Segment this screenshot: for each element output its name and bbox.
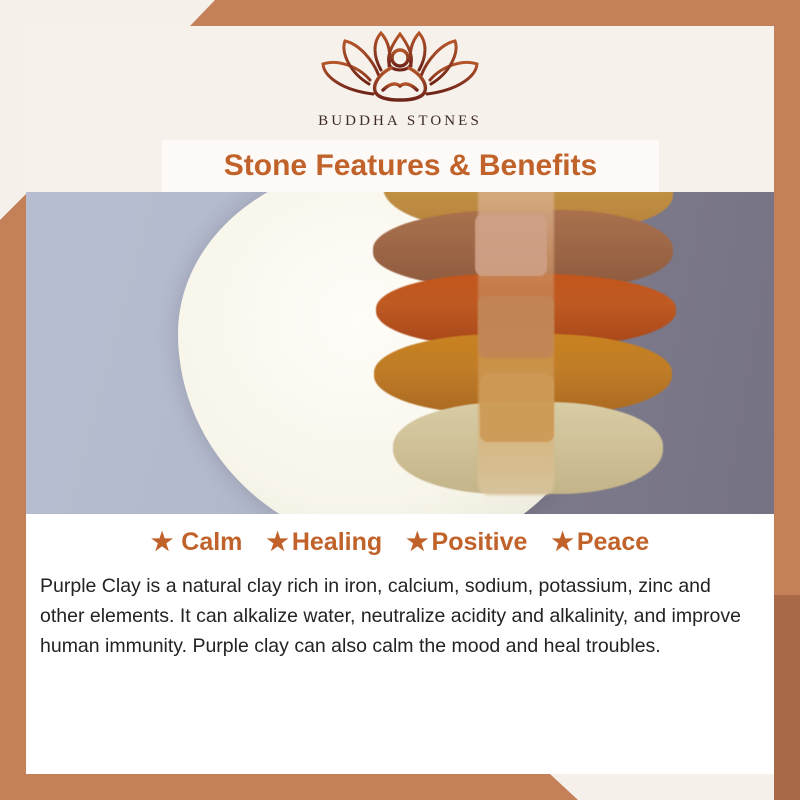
title-left-spacer <box>26 140 162 192</box>
clay-chip-upper <box>475 214 547 276</box>
keyword-list: ★Calm ★Healing ★Positive ★Peace <box>26 514 774 557</box>
keyword-peace: ★Peace <box>551 528 649 557</box>
keyword-calm: ★Calm <box>151 528 243 557</box>
page-title-text: Stone Features & Benefits <box>224 149 597 183</box>
clay-powder-plate-photo: Purple Clay <box>26 192 774 514</box>
star-icon: ★ <box>551 530 573 555</box>
clay-chip-lower <box>480 374 554 442</box>
frame-left-strip <box>0 0 26 800</box>
keyword-label: Healing <box>292 528 382 557</box>
description-paragraph: Purple Clay is a natural clay rich in ir… <box>40 571 760 661</box>
brand-wordmark: BUDDHA STONES <box>318 113 482 130</box>
keyword-label: Peace <box>577 528 649 557</box>
clay-chip-middle <box>478 296 554 358</box>
page-title: Stone Features & Benefits <box>162 140 659 192</box>
title-right-spacer <box>659 140 774 192</box>
star-icon: ★ <box>266 530 288 555</box>
lotus-meditation-figure-icon <box>311 28 489 109</box>
frame-bottom-strip <box>0 774 800 800</box>
description-section: ★Calm ★Healing ★Positive ★Peace Purple C… <box>26 514 774 774</box>
content-panel: BUDDHA STONES Stone Features & Benefits <box>26 26 774 774</box>
frame-top-strip <box>0 0 800 26</box>
keyword-healing: ★Healing <box>266 528 382 557</box>
star-icon: ★ <box>151 530 173 555</box>
keyword-positive: ★Positive <box>406 528 527 557</box>
star-icon: ★ <box>406 530 428 555</box>
keyword-label: Calm <box>181 528 242 557</box>
white-plate <box>178 192 608 514</box>
infographic-card: BUDDHA STONES Stone Features & Benefits <box>0 0 800 800</box>
frame-right-shade <box>774 595 800 800</box>
brand-header: BUDDHA STONES <box>26 26 774 140</box>
keyword-label: Positive <box>432 528 528 557</box>
